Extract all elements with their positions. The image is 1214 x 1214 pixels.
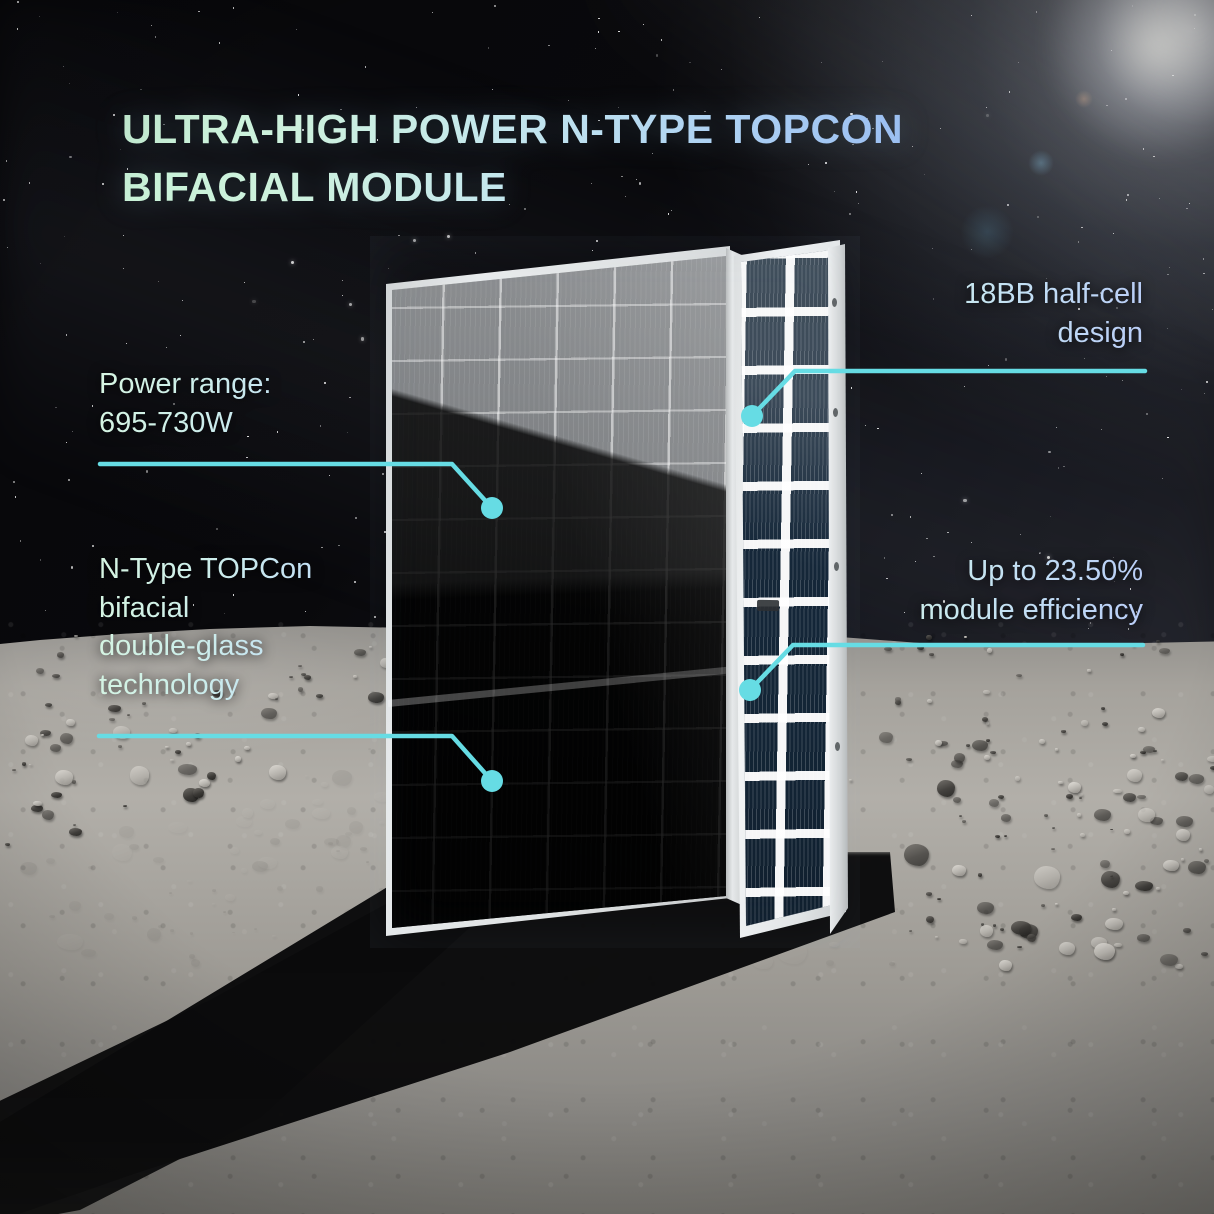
callout-power-range-line-1: Power range: — [99, 365, 429, 404]
callout-n-type-topcon-line-1: N-Type TOPCon — [99, 550, 429, 589]
page-title: ULTRA-HIGH POWER N-TYPE TOPCON BIFACIAL … — [122, 100, 1082, 216]
front-module-sheen — [386, 254, 732, 928]
callout-18bb-half-cell-line-1: 18BB half-cell — [803, 275, 1143, 314]
callout-power-range-line-2: 695-730W — [99, 404, 429, 443]
callout-module-efficiency-line-1: Up to 23.50% — [803, 552, 1143, 591]
callout-module-efficiency: Up to 23.50%module efficiency — [803, 552, 1143, 629]
junction-box — [757, 600, 779, 611]
callout-n-type-topcon: N-Type TOPConbifacialdouble-glasstechnol… — [99, 550, 429, 704]
callout-power-range: Power range:695-730W — [99, 365, 429, 442]
callout-module-efficiency-line-2: module efficiency — [803, 591, 1143, 630]
callout-n-type-topcon-line-3: double-glass — [99, 627, 429, 666]
callout-18bb-half-cell-line-2: design — [803, 314, 1143, 353]
title-line-1: ULTRA-HIGH POWER N-TYPE TOPCON — [122, 100, 1082, 158]
callout-18bb-half-cell: 18BB half-celldesign — [803, 275, 1143, 352]
product-infographic: ULTRA-HIGH POWER N-TYPE TOPCON BIFACIAL … — [0, 0, 1214, 1214]
callout-n-type-topcon-line-2: bifacial — [99, 589, 429, 628]
callout-n-type-topcon-line-4: technology — [99, 666, 429, 705]
title-line-2: BIFACIAL MODULE — [122, 158, 1082, 216]
frame-mounting-hole — [835, 742, 840, 751]
frame-mounting-hole — [833, 408, 838, 417]
